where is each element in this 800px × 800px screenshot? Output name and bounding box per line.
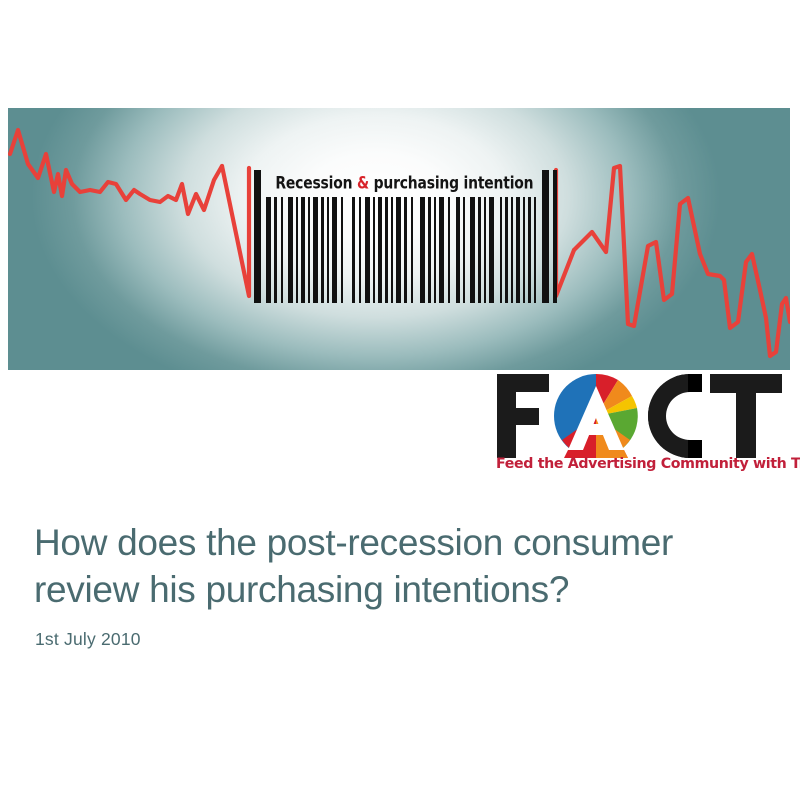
chart-line-barcode-left-edge bbox=[222, 166, 249, 296]
chart-line-right bbox=[574, 166, 790, 356]
barcode-graphic: Recession & purchasing intention bbox=[248, 170, 560, 303]
logo-letter-c-icon bbox=[648, 374, 702, 458]
barcode-label: Recession & purchasing intention bbox=[248, 170, 560, 198]
logo-letter-t-icon bbox=[710, 374, 782, 458]
barcode-label-ampersand: & bbox=[357, 175, 369, 194]
slide-root: { "slide": { "title": "How does the post… bbox=[0, 0, 800, 800]
hero-banner-image: Recession & purchasing intention bbox=[8, 108, 790, 370]
logo-letter-a-colorwheel-icon bbox=[554, 374, 638, 458]
chart-line-left bbox=[10, 130, 222, 214]
slide-date: 1st July 2010 bbox=[35, 629, 141, 650]
fact-logo-letters bbox=[492, 372, 792, 458]
barcode-label-prefix: Recession bbox=[275, 175, 357, 194]
barcode-label-suffix: purchasing intention bbox=[369, 175, 533, 194]
barcode-bars bbox=[248, 197, 560, 303]
barcode-label-text: Recession & purchasing intention bbox=[275, 175, 533, 194]
page-title-line-2: review his purchasing intentions? bbox=[34, 566, 764, 613]
page-title: How does the post-recession consumer rev… bbox=[34, 519, 764, 613]
fact-logo: Feed the Advertising Community with Tren… bbox=[492, 372, 792, 484]
fact-logo-tagline: Feed the Advertising Community with Tren… bbox=[496, 456, 792, 472]
logo-letter-f-icon bbox=[497, 374, 549, 458]
page-title-line-1: How does the post-recession consumer bbox=[34, 519, 764, 566]
